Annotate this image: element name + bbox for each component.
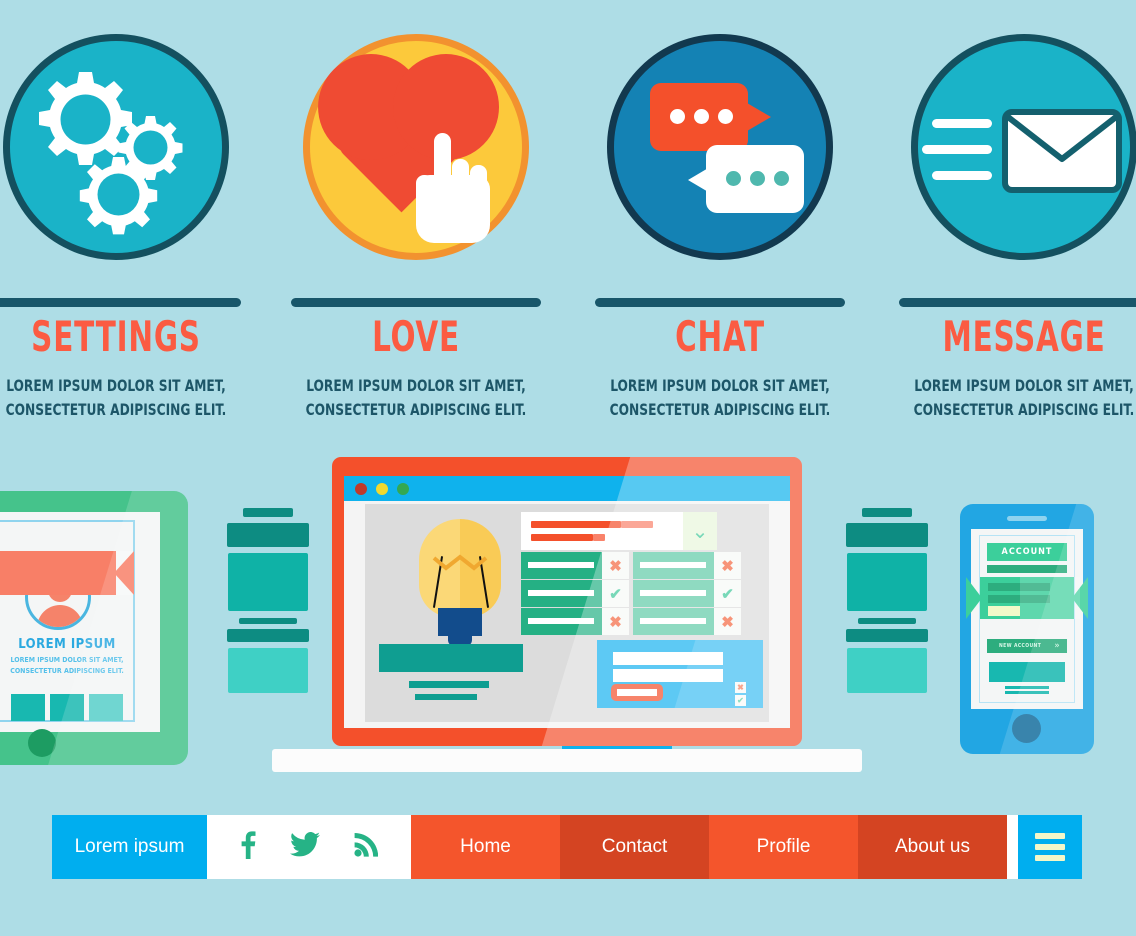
feature-title: SETTINGS	[5, 312, 227, 361]
laptop-gloss	[332, 457, 802, 746]
new-account-button[interactable]: NEW ACCOUNT »	[987, 639, 1067, 653]
phone-ribbon	[966, 577, 1088, 619]
feature-description: LOREM IPSUM DOLOR SIT AMET, CONSECTETUR …	[295, 374, 536, 422]
facebook-icon[interactable]	[240, 831, 256, 864]
content-bar	[243, 508, 293, 517]
phone-device[interactable]: ACCOUNT NEW ACCOUNT »	[960, 504, 1094, 754]
content-bar	[847, 553, 927, 611]
content-bar	[228, 553, 308, 611]
content-bar	[858, 618, 916, 624]
feature-love[interactable]: LOVE LOREM IPSUM DOLOR SIT AMET, CONSECT…	[274, 0, 558, 430]
bottom-navbar: Lorem ipsum Home Contact Profile About u…	[52, 815, 1084, 879]
devices-row: LOREM IPSUM LOREM IPSUM DOLOR SIT AMET, …	[0, 452, 1136, 792]
twitter-icon[interactable]	[290, 832, 320, 862]
content-bar	[227, 523, 309, 547]
content-bar-stack-left	[227, 505, 309, 725]
tablet-gloss	[0, 491, 188, 765]
content-bar	[846, 523, 928, 547]
hamburger-menu-icon[interactable]	[1018, 815, 1082, 879]
phone-account-header: ACCOUNT	[987, 543, 1067, 561]
feature-description: LOREM IPSUM DOLOR SIT AMET, CONSECTETUR …	[0, 374, 237, 422]
laptop-base	[272, 749, 862, 772]
tablet-device[interactable]: LOREM IPSUM LOREM IPSUM DOLOR SIT AMET, …	[0, 491, 188, 765]
feature-desc-line-1: LOREM IPSUM DOLOR SIT AMET,	[295, 374, 536, 398]
laptop-device[interactable]: ⌄ ✖ ✔	[332, 457, 802, 772]
phone-row	[987, 565, 1067, 573]
nav-link-home[interactable]: Home	[411, 815, 560, 879]
feature-settings[interactable]: SETTINGS LOREM IPSUM DOLOR SIT AMET, CON…	[0, 0, 258, 430]
feature-title: CHAT	[609, 312, 831, 361]
feature-description: LOREM IPSUM DOLOR SIT AMET, CONSECTETUR …	[903, 374, 1136, 422]
phone-line	[1005, 691, 1049, 694]
content-bar	[846, 629, 928, 642]
new-account-label: NEW ACCOUNT	[999, 643, 1041, 649]
envelope-icon[interactable]	[911, 34, 1136, 260]
heart-hand-icon[interactable]	[303, 34, 529, 260]
navbar-divider	[1007, 815, 1018, 879]
nav-link-profile[interactable]: Profile	[709, 815, 858, 879]
feature-columns: SETTINGS LOREM IPSUM DOLOR SIT AMET, CON…	[0, 0, 1136, 430]
feature-chat[interactable]: CHAT LOREM IPSUM DOLOR SIT AMET, CONSECT…	[578, 0, 862, 430]
feature-rule	[0, 298, 241, 307]
feature-description: LOREM IPSUM DOLOR SIT AMET, CONSECTETUR …	[599, 374, 840, 422]
feature-desc-line-1: LOREM IPSUM DOLOR SIT AMET,	[903, 374, 1136, 398]
infographic-stage: SETTINGS LOREM IPSUM DOLOR SIT AMET, CON…	[0, 0, 1136, 936]
navbar-social-links	[207, 815, 411, 879]
nav-link-contact[interactable]: Contact	[560, 815, 709, 879]
laptop-lid: ⌄ ✖ ✔	[332, 457, 802, 746]
feature-desc-line-1: LOREM IPSUM DOLOR SIT AMET,	[0, 374, 237, 398]
speed-line	[932, 171, 992, 180]
navbar-brand[interactable]: Lorem ipsum	[52, 815, 207, 879]
chevron-right-icon: »	[1054, 641, 1060, 651]
phone-line	[1005, 686, 1049, 689]
chat-bubbles-icon[interactable]	[607, 34, 833, 260]
feature-desc-line-2: CONSECTETUR ADIPISCING ELIT.	[295, 398, 536, 422]
content-bar	[862, 508, 912, 517]
feature-rule	[899, 298, 1136, 307]
speed-line	[932, 119, 992, 128]
feature-desc-line-2: CONSECTETUR ADIPISCING ELIT.	[599, 398, 840, 422]
phone-home-button[interactable]	[1012, 714, 1041, 743]
phone-speaker	[1007, 516, 1047, 521]
rss-icon[interactable]	[354, 832, 378, 862]
gears-icon[interactable]	[3, 34, 229, 260]
content-bar	[847, 648, 927, 693]
content-bar	[239, 618, 297, 624]
content-bar	[228, 648, 308, 693]
feature-desc-line-2: CONSECTETUR ADIPISCING ELIT.	[903, 398, 1136, 422]
pointing-hand-shape	[412, 133, 490, 243]
nav-link-about-us[interactable]: About us	[858, 815, 1007, 879]
feature-title: LOVE	[305, 312, 527, 361]
phone-block	[989, 662, 1065, 682]
feature-title: MESSAGE	[913, 312, 1135, 361]
feature-desc-line-2: CONSECTETUR ADIPISCING ELIT.	[0, 398, 237, 422]
feature-message[interactable]: MESSAGE LOREM IPSUM DOLOR SIT AMET, CONS…	[882, 0, 1136, 430]
feature-rule	[291, 298, 541, 307]
speed-line	[922, 145, 992, 154]
content-bar-stack-right	[846, 505, 928, 725]
feature-desc-line-1: LOREM IPSUM DOLOR SIT AMET,	[599, 374, 840, 398]
feature-rule	[595, 298, 845, 307]
phone-screen: ACCOUNT NEW ACCOUNT »	[971, 529, 1083, 709]
content-bar	[227, 629, 309, 642]
